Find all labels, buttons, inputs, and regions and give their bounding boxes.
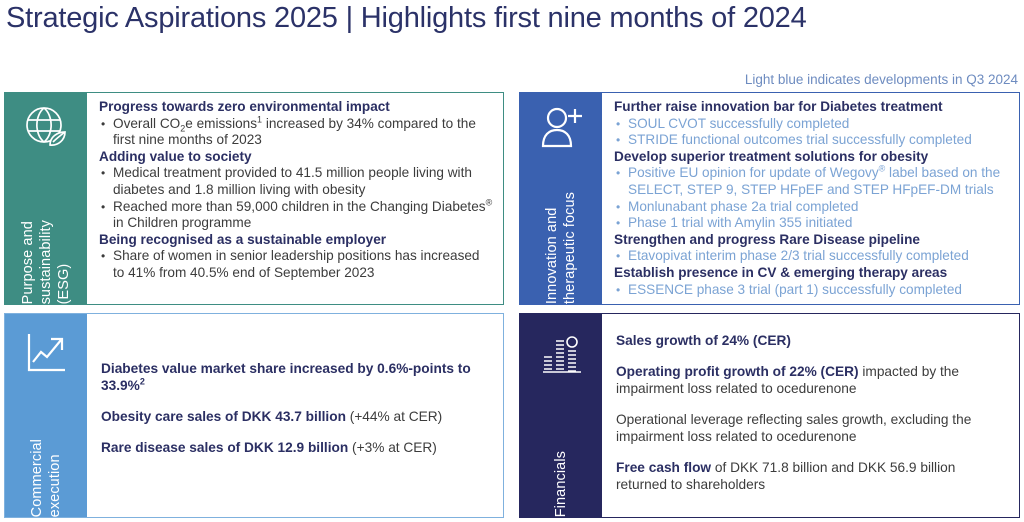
panel-esg-body: Progress towards zero environmental impa… <box>87 93 503 304</box>
panel-financials-body: Sales growth of 24% (CER) Operating prof… <box>602 314 1019 517</box>
esg-heading-3: Being recognised as a sustainable employ… <box>99 232 493 249</box>
list-item: ESSENCE phase 3 trial (part 1) successfu… <box>614 282 1009 299</box>
panel-financials: Financials Sales growth of 24% (CER) Ope… <box>519 313 1020 518</box>
innovation-bullets-1: SOUL CVOT successfully completed STRIDE … <box>614 116 1009 149</box>
list-item: Overall CO2e emissions1 increased by 34%… <box>99 116 493 149</box>
panel-financials-sidebar: Financials <box>520 314 602 517</box>
panel-esg-label: Purpose and sustainability (ESG) <box>19 212 73 304</box>
panel-commercial: Commercial execution Diabetes value mark… <box>4 313 504 518</box>
slide: Strategic Aspirations 2025 | Highlights … <box>0 0 1024 522</box>
esg-heading-2: Adding value to society <box>99 149 493 166</box>
panel-innovation-sidebar: Innovation and therapeutic focus <box>520 93 602 304</box>
financials-statement-3: Operational leverage reflecting sales gr… <box>616 411 1009 445</box>
esg-heading-1: Progress towards zero environmental impa… <box>99 99 493 116</box>
esg-bullets-2: Medical treatment provided to 41.5 milli… <box>99 165 493 231</box>
esg-bullets-3: Share of women in senior leadership posi… <box>99 248 493 281</box>
list-item: Reached more than 59,000 children in the… <box>99 199 493 232</box>
innovation-heading-2: Develop superior treatment solutions for… <box>614 149 1009 166</box>
list-item: Etavopivat interim phase 2/3 trial succe… <box>614 248 1009 265</box>
list-item: Monlunabant phase 2a trial completed <box>614 199 1009 216</box>
commercial-statement-3: Rare disease sales of DKK 12.9 billion (… <box>101 439 493 456</box>
panel-financials-label: Financials <box>552 443 570 517</box>
globe-leaf-icon <box>20 101 72 153</box>
line-chart-up-icon <box>20 328 72 380</box>
innovation-heading-1: Further raise innovation bar for Diabete… <box>614 99 1009 116</box>
page-title: Strategic Aspirations 2025 | Highlights … <box>6 2 807 35</box>
panel-innovation: Innovation and therapeutic focus Further… <box>519 92 1020 305</box>
list-item: Share of women in senior leadership posi… <box>99 248 493 281</box>
panel-innovation-body: Further raise innovation bar for Diabete… <box>602 93 1019 304</box>
innovation-heading-3: Strengthen and progress Rare Disease pip… <box>614 232 1009 249</box>
innovation-heading-4: Establish presence in CV & emerging ther… <box>614 265 1009 282</box>
bar-chart-icon <box>535 328 587 380</box>
panel-esg-sidebar: Purpose and sustainability (ESG) <box>5 93 87 304</box>
panel-esg: Purpose and sustainability (ESG) Progres… <box>4 92 504 305</box>
esg-bullets-1: Overall CO2e emissions1 increased by 34%… <box>99 116 493 149</box>
panel-commercial-label: Commercial execution <box>28 431 64 517</box>
person-plus-icon <box>535 101 587 153</box>
list-item: Phase 1 trial with Amylin 355 initiated <box>614 215 1009 232</box>
financials-statement-1: Sales growth of 24% (CER) <box>616 332 1009 349</box>
commercial-statement-1: Diabetes value market share increased by… <box>101 360 493 394</box>
list-item: Positive EU opinion for update of Wegovy… <box>614 165 1009 198</box>
list-item: Medical treatment provided to 41.5 milli… <box>99 165 493 198</box>
financials-statement-4: Free cash flow of DKK 71.8 billion and D… <box>616 459 1009 493</box>
innovation-bullets-2: Positive EU opinion for update of Wegovy… <box>614 165 1009 231</box>
commercial-statement-2: Obesity care sales of DKK 43.7 billion (… <box>101 408 493 425</box>
innovation-bullets-4: ESSENCE phase 3 trial (part 1) successfu… <box>614 282 1009 299</box>
financials-statement-2: Operating profit growth of 22% (CER) imp… <box>616 363 1009 397</box>
panel-commercial-body: Diabetes value market share increased by… <box>87 314 503 517</box>
list-item: STRIDE functional outcomes trial success… <box>614 132 1009 149</box>
panel-commercial-sidebar: Commercial execution <box>5 314 87 517</box>
panel-innovation-label: Innovation and therapeutic focus <box>543 184 579 304</box>
innovation-bullets-3: Etavopivat interim phase 2/3 trial succe… <box>614 248 1009 265</box>
list-item: SOUL CVOT successfully completed <box>614 116 1009 133</box>
legend-note: Light blue indicates developments in Q3 … <box>745 72 1018 87</box>
